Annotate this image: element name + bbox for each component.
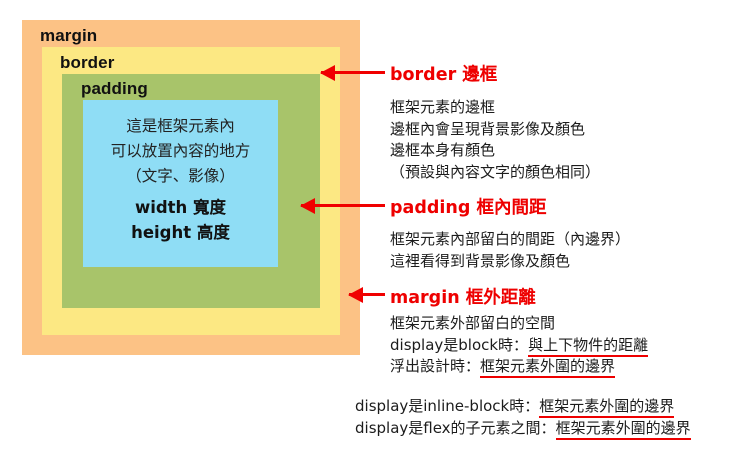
content-box-description: 這是框架元素內 可以放置內容的地方 （文字、影像） bbox=[83, 114, 278, 189]
margin-callout-arrow-icon bbox=[349, 293, 385, 296]
margin-line-5-underlined: 框架元素外圍的邊界 bbox=[556, 419, 691, 440]
margin-line-5-prefix: display是flex的子元素之間： bbox=[355, 419, 556, 437]
margin-annotation-line-2: display是block時：與上下物件的距離 bbox=[390, 335, 648, 357]
content-line-1: 這是框架元素內 bbox=[83, 114, 278, 139]
margin-line-3-prefix: 浮出設計時： bbox=[390, 357, 480, 375]
margin-box: margin border padding 這是框架元素內 可以放置內容的地方 … bbox=[22, 20, 360, 355]
margin-annotation-line-5: display是flex的子元素之間：框架元素外圍的邊界 bbox=[355, 418, 691, 440]
border-callout-arrow-icon bbox=[321, 71, 385, 74]
border-annotation-line-2: 邊框內會呈現背景影像及顏色 bbox=[390, 119, 600, 141]
content-line-3: （文字、影像） bbox=[83, 164, 278, 189]
margin-box-label: margin bbox=[40, 26, 97, 46]
box-model-diagram: margin border padding 這是框架元素內 可以放置內容的地方 … bbox=[0, 0, 750, 461]
margin-annotation-line-1: 框架元素外部留白的空間 bbox=[390, 313, 648, 335]
margin-line-3-underlined: 框架元素外圍的邊界 bbox=[480, 357, 615, 378]
margin-annotation-title: margin 框外距離 bbox=[390, 284, 536, 309]
padding-annotation-line-2: 這裡看得到背景影像及顏色 bbox=[390, 251, 630, 273]
border-box-label: border bbox=[60, 53, 114, 73]
padding-annotation-title: padding 框內間距 bbox=[390, 194, 630, 219]
padding-box-label: padding bbox=[81, 79, 148, 99]
margin-annotation-body-secondary: display是inline-block時：框架元素外圍的邊界 display是… bbox=[355, 396, 691, 439]
border-annotation-title: border 邊框 bbox=[390, 61, 600, 86]
border-annotation-line-4: （預設與內容文字的顏色相同） bbox=[390, 162, 600, 184]
border-annotation-line-3: 邊框本身有顏色 bbox=[390, 140, 600, 162]
padding-annotation-line-1: 框架元素內部留白的間距（內邊界） bbox=[390, 229, 630, 251]
padding-box: padding 這是框架元素內 可以放置內容的地方 （文字、影像） width … bbox=[62, 74, 320, 308]
content-width-label: width 寬度 bbox=[83, 195, 278, 220]
padding-annotation-body: 框架元素內部留白的間距（內邊界） 這裡看得到背景影像及顏色 bbox=[390, 229, 630, 272]
margin-line-2-underlined: 與上下物件的距離 bbox=[528, 336, 648, 357]
margin-annotation-line-3: 浮出設計時：框架元素外圍的邊界 bbox=[390, 356, 648, 378]
content-box: 這是框架元素內 可以放置內容的地方 （文字、影像） width 寬度 heigh… bbox=[83, 100, 278, 267]
content-line-2: 可以放置內容的地方 bbox=[83, 139, 278, 164]
padding-callout-arrow-icon bbox=[301, 204, 385, 207]
margin-line-4-underlined: 框架元素外圍的邊界 bbox=[539, 397, 674, 418]
border-box: border padding 這是框架元素內 可以放置內容的地方 （文字、影像）… bbox=[42, 47, 340, 335]
border-annotation: border 邊框 框架元素的邊框 邊框內會呈現背景影像及顏色 邊框本身有顏色 … bbox=[390, 61, 600, 183]
margin-annotation-line-4: display是inline-block時：框架元素外圍的邊界 bbox=[355, 396, 691, 418]
border-annotation-body: 框架元素的邊框 邊框內會呈現背景影像及顏色 邊框本身有顏色 （預設與內容文字的顏… bbox=[390, 97, 600, 183]
margin-line-2-prefix: display是block時： bbox=[390, 336, 528, 354]
border-annotation-line-1: 框架元素的邊框 bbox=[390, 97, 600, 119]
content-height-label: height 高度 bbox=[83, 220, 278, 245]
margin-line-4-prefix: display是inline-block時： bbox=[355, 397, 539, 415]
content-box-dimensions: width 寬度 height 高度 bbox=[83, 195, 278, 245]
padding-annotation: padding 框內間距 框架元素內部留白的間距（內邊界） 這裡看得到背景影像及… bbox=[390, 194, 630, 272]
margin-annotation-body: 框架元素外部留白的空間 display是block時：與上下物件的距離 浮出設計… bbox=[390, 313, 648, 378]
margin-annotation-title-wrap: margin 框外距離 bbox=[390, 284, 536, 309]
